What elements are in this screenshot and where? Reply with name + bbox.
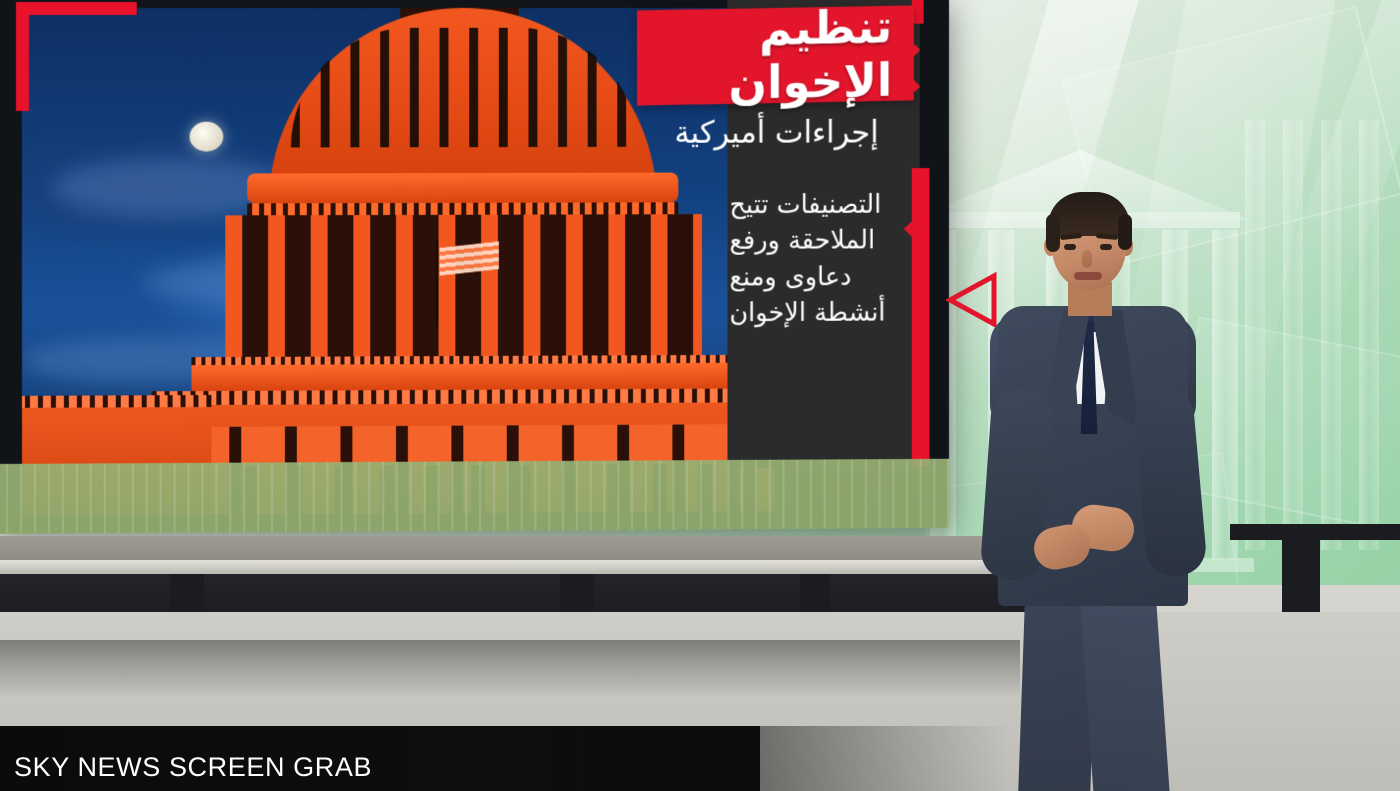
nose (1082, 250, 1092, 268)
body-line: الملاحقة ورفع (729, 224, 875, 258)
hair-side (1118, 214, 1132, 250)
balcony-shape (191, 363, 745, 391)
body-line: دعاوى ومنع (729, 260, 851, 294)
headline-title: تنظيم الإخوان (647, 14, 892, 98)
mouth (1074, 272, 1102, 280)
eye (1064, 244, 1076, 250)
column-shape (1321, 120, 1341, 550)
hair-side (1046, 214, 1060, 252)
cornice-band (152, 388, 775, 405)
wing-cornice (22, 395, 211, 408)
band-diagonal-texture (0, 459, 949, 534)
dome-ring (247, 173, 678, 204)
video-wall-display: تنظيم الإخوان إجراءات أميركية التصنيفات … (0, 0, 949, 534)
flagpole-shape (436, 241, 439, 327)
dome-windows (291, 28, 637, 148)
column-shape (1283, 120, 1303, 550)
green-overlay-band (0, 459, 949, 534)
corner-bracket-icon (16, 2, 137, 111)
graphic-body-text: التصنيفات تتيح الملاحقة ورفع دعاوى ومنع … (729, 188, 915, 416)
dome-dentil-band (247, 202, 678, 215)
floor-shadow (0, 640, 1020, 698)
column-group-graphic (1245, 120, 1395, 550)
news-presenter (960, 190, 1260, 760)
headline-subtitle: إجراءات أميركية (637, 105, 916, 161)
column-shape (1359, 120, 1379, 550)
peristyle-columns (225, 214, 702, 367)
body-line: التصنيفات تتيح (729, 188, 881, 222)
body-line: أنشطة الإخوان (729, 296, 885, 331)
peristyle (225, 214, 702, 367)
channel-watermark: SKY NEWS SCREEN GRAB (14, 752, 372, 783)
eye (1100, 244, 1112, 250)
broadcast-screenshot: تنظيم الإخوان إجراءات أميركية التصنيفات … (0, 0, 1400, 791)
